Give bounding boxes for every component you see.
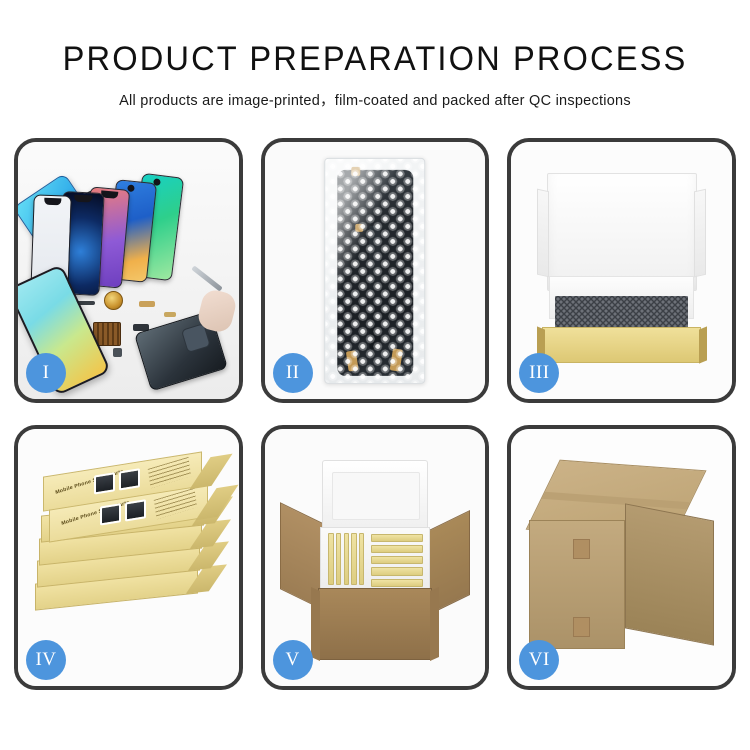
- box-stack: Mobile Phone Spare Parts Mobile Phone Sp…: [31, 460, 225, 666]
- yellow-box-item: [336, 533, 341, 585]
- foam-lid: [547, 173, 697, 291]
- bubble-bag: [324, 157, 426, 383]
- yellow-box-item: [344, 533, 349, 585]
- screen-photo-print: [125, 499, 145, 521]
- box-spec-text-block: [148, 457, 191, 489]
- yellow-box-item: [328, 533, 333, 585]
- notch-icon: [73, 195, 92, 203]
- page-title: PRODUCT PREPARATION PROCESS: [15, 42, 735, 78]
- step-panel-4: Mobile Phone Spare Parts Mobile Phone Sp…: [14, 425, 243, 690]
- tweezer-tool-icon: [192, 265, 223, 291]
- tape-tab: [573, 539, 590, 559]
- yellow-box-item: [371, 545, 423, 553]
- yellow-box-item: [371, 579, 423, 587]
- small-part: [164, 312, 176, 317]
- yellow-box-item: [371, 567, 423, 575]
- step-panel-2: II: [261, 138, 490, 403]
- small-part: [139, 301, 155, 307]
- product-preparation-infographic: PRODUCT PREPARATION PROCESS All products…: [0, 0, 750, 750]
- yellow-box-item: [359, 533, 364, 585]
- step-panel-3: III: [507, 138, 736, 403]
- screen-photo-print: [94, 472, 114, 494]
- yellow-box-item: [371, 534, 423, 542]
- tape-tab: [573, 617, 590, 637]
- step-badge-2: II: [273, 353, 313, 393]
- screen-photo-print: [119, 468, 139, 490]
- foam-box-interior: [320, 527, 430, 591]
- step-panel-1: I: [14, 138, 243, 403]
- header: PRODUCT PREPARATION PROCESS All products…: [0, 0, 750, 110]
- step-badge-5: V: [273, 640, 313, 680]
- step-panel-5: V: [261, 425, 490, 690]
- carton-body: [318, 588, 433, 660]
- yellow-box-item: [371, 556, 423, 564]
- carton-side-face: [625, 503, 714, 645]
- yellow-box-item: [351, 533, 356, 585]
- foam-lid-open: [322, 460, 428, 532]
- process-steps-grid: I II: [14, 138, 736, 690]
- notch-icon: [44, 198, 61, 206]
- copper-coil-part: [104, 291, 123, 310]
- yellow-box-base: [542, 327, 701, 363]
- screen-photo-print: [100, 503, 120, 525]
- small-part: [113, 348, 122, 357]
- bubble-bag-wrapper: [324, 157, 426, 383]
- page-subtitle: All products are image-printed，film-coat…: [0, 89, 750, 110]
- step-badge-1: I: [26, 353, 66, 393]
- sealed-carton: [529, 465, 714, 660]
- step-panel-6: VI: [507, 425, 736, 690]
- bubble-wrapped-contents: [555, 296, 687, 329]
- plastic-sheen: [325, 158, 425, 382]
- step-badge-4: IV: [26, 640, 66, 680]
